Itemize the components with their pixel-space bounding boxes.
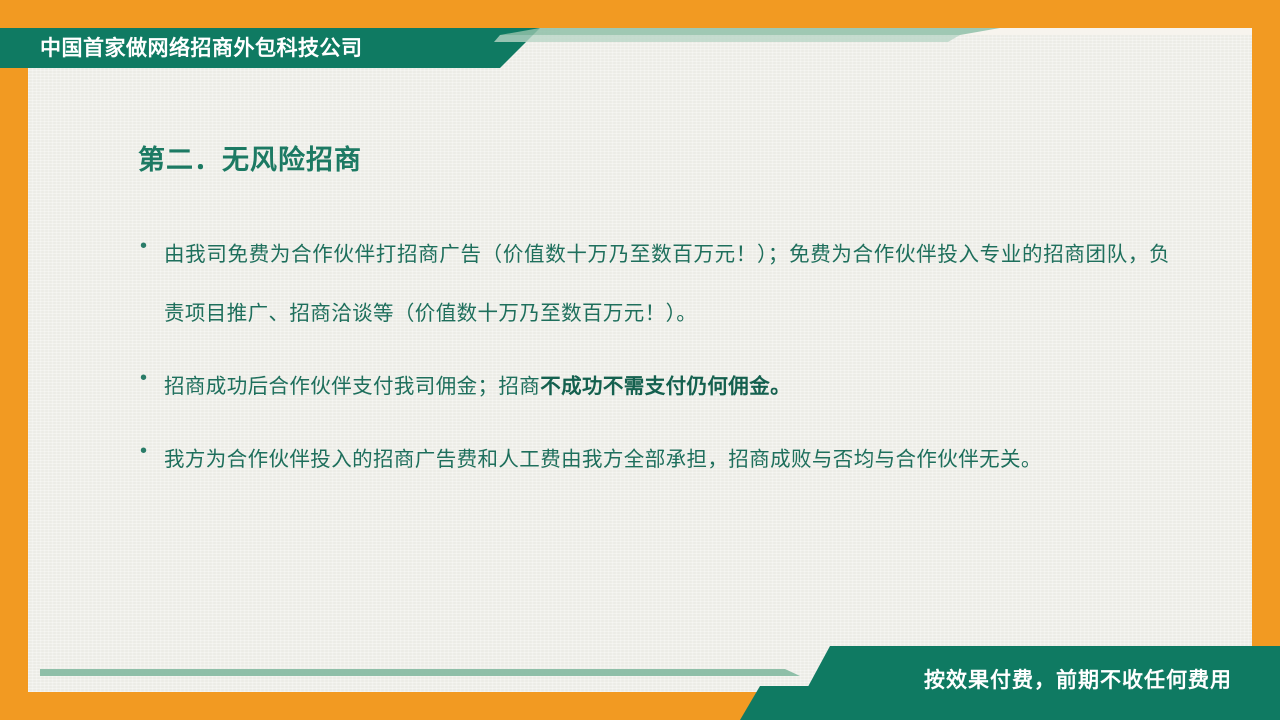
- list-item-text-normal: 招商成功后合作伙伴支付我司佣金；招商: [164, 375, 540, 398]
- header-title: 中国首家做网络招商外包科技公司: [40, 36, 363, 62]
- list-item-text-normal: 我方为合作伙伴投入的招商广告费和人工费由我方全部承担，招商成败与否均与合作伙伴无…: [164, 448, 1042, 471]
- bullet-marker-icon: •: [140, 357, 164, 399]
- slide: 中国首家做网络招商外包科技公司 第二．无风险招商 • 由我司免费为合作伙伴打招商…: [0, 0, 1280, 720]
- list-item-text: 我方为合作伙伴投入的招商广告费和人工费由我方全部承担，招商成败与否均与合作伙伴无…: [164, 430, 1170, 489]
- bullet-marker-icon: •: [140, 430, 164, 472]
- list-item: • 我方为合作伙伴投入的招商广告费和人工费由我方全部承担，招商成败与否均与合作伙…: [140, 430, 1170, 489]
- bullet-marker-icon: •: [140, 225, 164, 267]
- list-item-text: 招商成功后合作伙伴支付我司佣金；招商不成功不需支付仍何佣金。: [164, 357, 1170, 416]
- list-item-text-emphasis: 不成功不需支付仍何佣金。: [540, 375, 791, 398]
- bullet-list: • 由我司免费为合作伙伴打招商广告（价值数十万乃至数百万元！）；免费为合作伙伴投…: [140, 225, 1170, 503]
- list-item: • 由我司免费为合作伙伴打招商广告（价值数十万乃至数百万元！）；免费为合作伙伴投…: [140, 225, 1170, 343]
- footer-title: 按效果付费，前期不收任何费用: [924, 664, 1232, 694]
- page-title: 第二．无风险招商: [138, 138, 362, 177]
- list-item-text: 由我司免费为合作伙伴打招商广告（价值数十万乃至数百万元！）；免费为合作伙伴投入专…: [164, 225, 1170, 343]
- list-item: • 招商成功后合作伙伴支付我司佣金；招商不成功不需支付仍何佣金。: [140, 357, 1170, 416]
- list-item-text-normal: 由我司免费为合作伙伴打招商广告（价值数十万乃至数百万元！）；免费为合作伙伴投入专…: [164, 243, 1170, 325]
